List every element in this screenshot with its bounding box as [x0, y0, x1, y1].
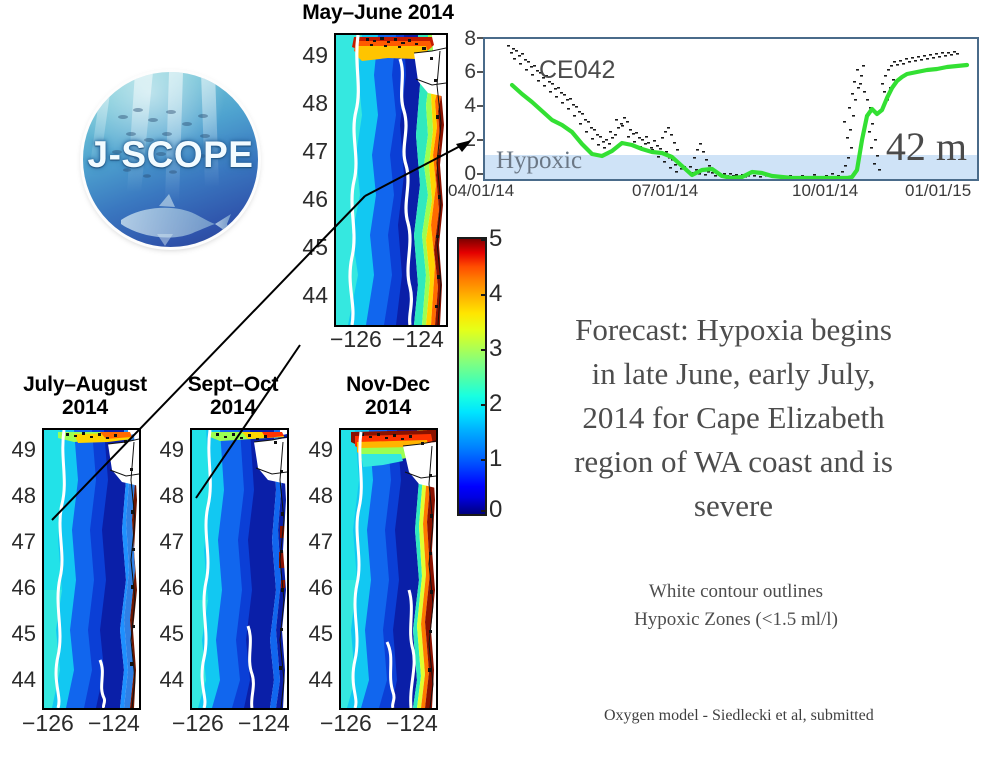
map-nov-dec-canvas — [341, 430, 436, 708]
map-july-august-xtick: −124 — [88, 710, 140, 737]
map-sept-oct-xtick: −124 — [238, 710, 290, 737]
panel-title-line: 2014 — [318, 397, 458, 420]
forecast-line: in late June, early July, — [506, 352, 961, 396]
panel-title-line: Nov-Dec — [318, 374, 458, 397]
map-july-august-ytick: 49 — [6, 439, 36, 461]
forecast-line: severe — [506, 484, 961, 528]
j-scope-logo: J-SCOPE — [83, 72, 258, 247]
map-nov-dec-ytick: 44 — [303, 669, 333, 691]
panel-title-sept-oct: Sept–Oct 2014 — [163, 374, 303, 419]
contour-note-line: Hypoxic Zones (<1.5 ml/l) — [516, 606, 956, 634]
tuna-silhouette — [121, 194, 231, 246]
contour-note-line: White contour outlines — [516, 578, 956, 606]
map-sept-oct-ytick: 47 — [154, 531, 184, 553]
depth-label: 42 m — [886, 123, 967, 170]
map-sept-oct-ytick: 44 — [154, 669, 184, 691]
hypoxic-label: Hypoxic — [496, 147, 582, 175]
map-may-june-ytick: 47 — [296, 140, 328, 163]
timeseries-xtick: 07/01/14 — [632, 181, 698, 201]
map-sept-oct-ytick: 46 — [154, 577, 184, 599]
panel-title-line: 2014 — [163, 397, 303, 420]
timeseries-ytick: 2 — [452, 128, 476, 152]
timeseries-xtick: 10/01/14 — [792, 181, 858, 201]
map-sept-oct-ytick: 45 — [154, 623, 184, 645]
map-sept-oct-ytick: 49 — [154, 439, 184, 461]
panel-title-july-august: July–August 2014 — [5, 374, 165, 419]
map-nov-dec-ytick: 48 — [303, 485, 333, 507]
timeseries-xtick: 04/01/14 — [448, 181, 514, 201]
map-nov-dec — [339, 428, 438, 710]
timeseries-plot-ce042: CE042 Hypoxic 42 m — [483, 37, 979, 181]
forecast-line: 2014 for Cape Elizabeth — [506, 396, 961, 440]
map-may-june-xtick: −126 — [330, 326, 382, 353]
map-may-june-ytick: 44 — [296, 284, 328, 307]
colorbar-tick: 2 — [489, 390, 502, 418]
map-july-august-canvas — [44, 430, 139, 708]
colorbar-tick: 5 — [489, 225, 502, 253]
map-july-august-ytick: 45 — [6, 623, 36, 645]
panel-title-nov-dec: Nov-Dec 2014 — [318, 374, 458, 419]
colorbar-tick: 4 — [489, 280, 502, 308]
colorbar-tick: 1 — [489, 445, 502, 473]
map-nov-dec-ytick: 47 — [303, 531, 333, 553]
map-may-june-ytick: 48 — [296, 92, 328, 115]
map-july-august-ytick: 44 — [6, 669, 36, 691]
map-nov-dec-ytick: 45 — [303, 623, 333, 645]
map-july-august-xtick: −126 — [22, 710, 74, 737]
map-may-june-xtick: −124 — [392, 326, 444, 353]
colorbar-tick: 0 — [489, 496, 502, 524]
tuna-silhouette-small — [201, 237, 249, 247]
map-july-august-ytick: 47 — [6, 531, 36, 553]
map-sept-oct-xtick: −126 — [172, 710, 224, 737]
station-label: CE042 — [539, 56, 615, 85]
map-nov-dec-ytick: 49 — [303, 439, 333, 461]
timeseries-ytick: 8 — [452, 27, 476, 51]
timeseries-ytick: 6 — [452, 60, 476, 84]
forecast-line: Forecast: Hypoxia begins — [506, 308, 961, 352]
map-may-june-ytick: 45 — [296, 236, 328, 259]
panel-title-line: May–June 2014 — [288, 2, 468, 25]
timeseries-ytick: 4 — [452, 94, 476, 118]
map-may-june-ytick: 49 — [296, 44, 328, 67]
colorbar-tick: 3 — [489, 335, 502, 363]
attribution: Oxygen model - Siedlecki et al, submitte… — [604, 707, 984, 725]
map-nov-dec-ytick: 46 — [303, 577, 333, 599]
forecast-text: Forecast: Hypoxia begins in late June, e… — [506, 308, 961, 528]
map-nov-dec-xtick: −126 — [320, 710, 372, 737]
map-nov-dec-xtick: −124 — [386, 710, 438, 737]
map-sept-oct — [190, 428, 289, 710]
map-july-august-ytick: 48 — [6, 485, 36, 507]
contour-note: White contour outlines Hypoxic Zones (<1… — [516, 578, 956, 633]
map-sept-oct-canvas — [192, 430, 287, 708]
map-may-june-ytick: 46 — [296, 188, 328, 211]
colorbar-gradient — [457, 237, 487, 516]
map-may-june — [334, 33, 448, 327]
map-sept-oct-ytick: 48 — [154, 485, 184, 507]
forecast-line: region of WA coast and is — [506, 440, 961, 484]
map-july-august-ytick: 46 — [6, 577, 36, 599]
panel-title-line: 2014 — [5, 397, 165, 420]
timeseries-xtick: 01/01/15 — [905, 181, 971, 201]
map-july-august — [42, 428, 141, 710]
map-may-june-canvas — [336, 35, 446, 325]
panel-title-line: July–August — [5, 374, 165, 397]
panel-title-line: Sept–Oct — [163, 374, 303, 397]
panel-title-may-june: May–June 2014 — [288, 2, 468, 25]
logo-label: J-SCOPE — [83, 134, 258, 176]
